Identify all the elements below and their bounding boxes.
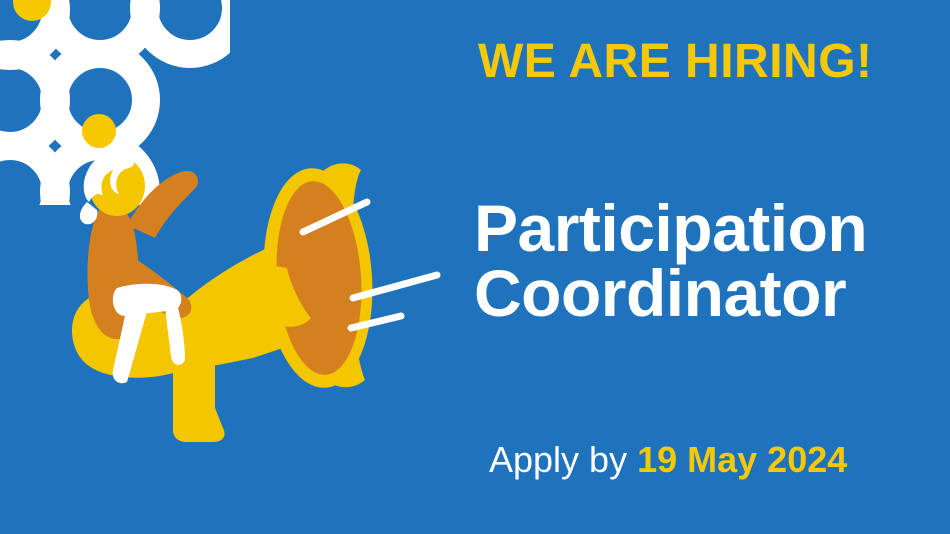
apply-deadline: Apply by 19 May 2024 (489, 439, 847, 481)
apply-date: 19 May 2024 (637, 439, 847, 480)
job-title-line-2: Coordinator (474, 261, 867, 326)
job-title: Participation Coordinator (474, 196, 867, 327)
headline: WE ARE HIRING! (478, 34, 873, 89)
megaphone-illustration (55, 140, 475, 450)
job-title-line-1: Participation (474, 191, 867, 265)
megaphone-illustration-svg (55, 140, 475, 450)
ring-r1c0 (0, 54, 56, 146)
hiring-banner: WE ARE HIRING! Participation Coordinator… (0, 0, 950, 534)
ring-r0c0 (0, 0, 56, 56)
ring-r0c2 (144, 0, 230, 54)
apply-prefix-label: Apply by (489, 439, 627, 480)
ring-r0c1 (54, 0, 146, 54)
ring-r1c1 (54, 54, 146, 146)
ring-r2c0 (0, 146, 56, 205)
yellow-dot-top (13, 0, 51, 21)
